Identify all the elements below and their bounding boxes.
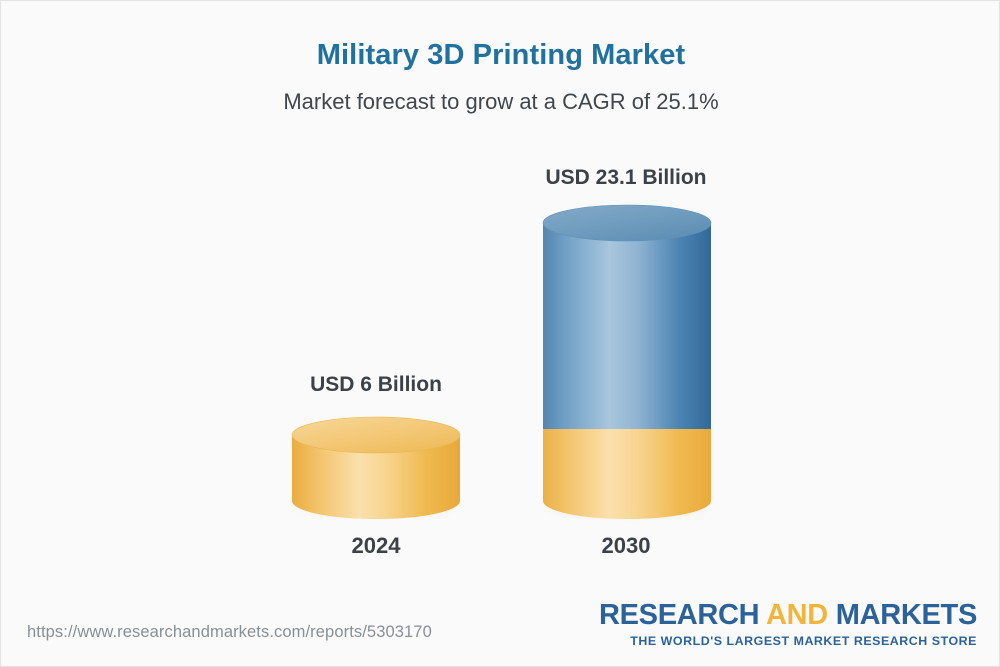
chart-figure: Military 3D Printing Market Market forec… [0,0,1000,667]
report-url[interactable]: https://www.researchandmarkets.com/repor… [27,623,432,642]
bar-segment-yellow-2030 [539,429,715,523]
bar-cylinder-2024 [288,415,464,523]
category-label-2024: 2024 [286,533,466,559]
bar-top-cap-2030 [543,205,711,241]
logo-tagline: THE WORLD'S LARGEST MARKET RESEARCH STOR… [599,635,977,647]
bar-top-cap-2024 [292,417,460,453]
logo-word-research: RESEARCH [599,599,766,631]
value-label-2024: USD 6 Billion [286,373,466,397]
chart-subtitle: Market forecast to grow at a CAGR of 25.… [1,89,1000,115]
chart-title: Military 3D Printing Market [1,39,1000,72]
logo-wordmark: RESEARCH AND MARKETS [599,601,977,630]
logo-word-markets: MARKETS [828,599,977,631]
logo-word-and: AND [766,599,828,631]
bar-cylinder-2030 [539,203,715,523]
research-and-markets-logo: RESEARCH AND MARKETS THE WORLD'S LARGEST… [599,601,977,647]
value-label-2030: USD 23.1 Billion [536,166,716,190]
category-label-2030: 2030 [536,533,716,559]
